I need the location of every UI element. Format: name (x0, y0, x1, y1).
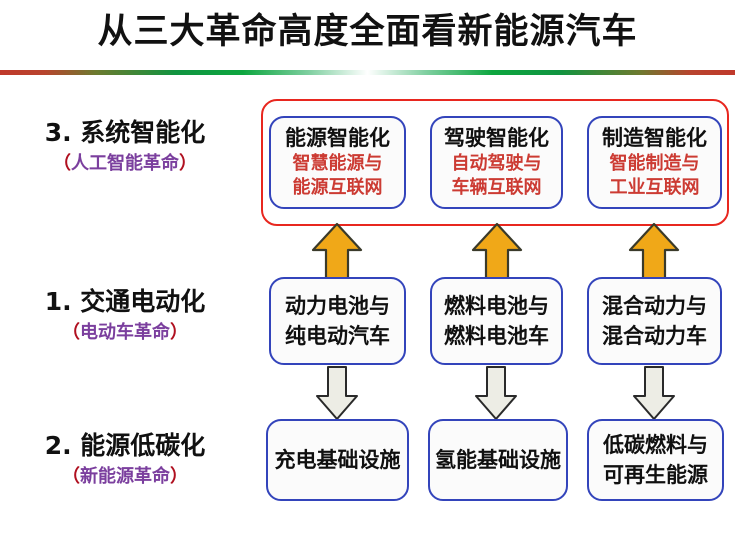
side-label-energy-decarbonization: 2. 能源低碳化 （新能源革命） (0, 430, 250, 490)
box-driving-intelligence[interactable]: 驾驶智能化 自动驾驶与 车辆互联网 (430, 116, 563, 209)
side-label-sub-text: （电动车革命） (0, 320, 250, 346)
side-label-sub-text: （人工智能革命） (0, 151, 250, 177)
box-subtitle-line-2: 工业互联网 (610, 176, 700, 200)
paren-open: （ (62, 322, 80, 343)
box-line-1: 氢能基础设施 (435, 445, 561, 475)
side-label-systems-intelligence: 3. 系统智能化 （人工智能革命） (0, 117, 250, 177)
arrow-up-icon (627, 222, 681, 282)
box-title: 驾驶智能化 (444, 125, 549, 152)
side-label-transport-electrification: 1. 交通电动化 （电动车革命） (0, 286, 250, 346)
box-subtitle-line-2: 车辆互联网 (452, 176, 542, 200)
box-energy-intelligence[interactable]: 能源智能化 智慧能源与 能源互联网 (269, 116, 406, 209)
box-title: 制造智能化 (602, 125, 707, 152)
box-subtitle-line-1: 智能制造与 (610, 152, 700, 176)
arrow-up-icon (310, 222, 364, 282)
paren-close: ） (170, 322, 188, 343)
page-title: 从三大革命高度全面看新能源汽车 (0, 9, 735, 55)
box-subtitle-line-1: 智慧能源与 (293, 152, 383, 176)
box-line-1: 动力电池与 (285, 291, 390, 321)
side-label-sub-inner: 电动车革命 (80, 322, 170, 343)
box-line-1: 混合动力与 (602, 291, 707, 321)
box-line-2: 纯电动汽车 (285, 321, 390, 351)
side-label-sub-inner: 新能源革命 (80, 466, 170, 487)
paren-close: ） (170, 466, 188, 487)
box-hybrid-power-hev[interactable]: 混合动力与 混合动力车 (587, 277, 722, 365)
box-line-2: 混合动力车 (602, 321, 707, 351)
side-label-main-text: 2. 能源低碳化 (0, 430, 250, 462)
box-line-2: 可再生能源 (603, 460, 708, 490)
box-title: 能源智能化 (285, 125, 390, 152)
box-hydrogen-infrastructure[interactable]: 氢能基础设施 (428, 419, 568, 501)
side-label-sub-text: （新能源革命） (0, 464, 250, 490)
side-label-main-text: 1. 交通电动化 (0, 286, 250, 318)
box-line-2: 燃料电池车 (444, 321, 549, 351)
arrow-down-icon (314, 365, 360, 421)
paren-open: （ (62, 466, 80, 487)
box-line-1: 燃料电池与 (444, 291, 549, 321)
box-line-1: 充电基础设施 (275, 445, 401, 475)
box-manufacturing-intelligence[interactable]: 制造智能化 智能制造与 工业互联网 (587, 116, 722, 209)
arrow-up-icon (470, 222, 524, 282)
paren-close: ） (179, 153, 197, 174)
box-charging-infrastructure[interactable]: 充电基础设施 (266, 419, 409, 501)
slide-canvas: 从三大革命高度全面看新能源汽车 3. 系统智能化 （人工智能革命） 1. 交通电… (0, 0, 735, 545)
paren-open: （ (53, 153, 71, 174)
arrow-down-icon (473, 365, 519, 421)
side-label-sub-inner: 人工智能革命 (71, 153, 179, 174)
box-subtitle-line-2: 能源互联网 (293, 176, 383, 200)
box-line-1: 低碳燃料与 (603, 430, 708, 460)
side-label-main-text: 3. 系统智能化 (0, 117, 250, 149)
box-power-battery-bev[interactable]: 动力电池与 纯电动汽车 (269, 277, 406, 365)
box-low-carbon-renewable-energy[interactable]: 低碳燃料与 可再生能源 (587, 419, 724, 501)
box-fuel-cell-fcev[interactable]: 燃料电池与 燃料电池车 (430, 277, 563, 365)
title-divider-bar (0, 70, 735, 75)
box-subtitle-line-1: 自动驾驶与 (452, 152, 542, 176)
arrow-down-icon (631, 365, 677, 421)
